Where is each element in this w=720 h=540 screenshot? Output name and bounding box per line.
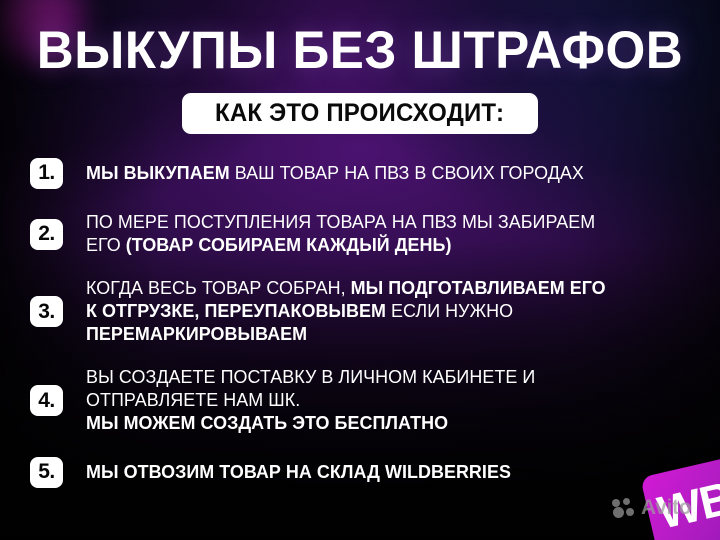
list-item: 5. МЫ ОТВОЗИМ ТОВАР НА СКЛАД WILDBERRIES [30, 455, 702, 489]
step-number-badge: 3. [30, 296, 63, 327]
step-text-line: ПЕРЕМАРКИРОВЫВАЕМ [86, 323, 693, 346]
step-text-line: МЫ МОЖЕМ СОЗДАТЬ ЭТО БЕСПЛАТНО [86, 412, 693, 435]
step-text: МЫ ОТВОЗИМ ТОВАР НА СКЛАД WILDBERRIES [86, 461, 693, 484]
list-item: 3. КОГДА ВЕСЬ ТОВАР СОБРАН, МЫ ПОДГОТАВЛ… [30, 277, 702, 346]
subtitle-pill: КАК ЭТО ПРОИСХОДИТ: [182, 93, 538, 134]
step-text-line: ЕГО (ТОВАР СОБИРАЕМ КАЖДЫЙ ДЕНЬ) [86, 234, 693, 257]
list-item: 1. МЫ ВЫКУПАЕМ ВАШ ТОВАР НА ПВЗ В СВОИХ … [30, 156, 702, 190]
step-text-line: МЫ ОТВОЗИМ ТОВАР НА СКЛАД WILDBERRIES [86, 461, 693, 484]
list-item: 4. ВЫ СОЗДАЕТЕ ПОСТАВКУ В ЛИЧНОМ КАБИНЕТ… [30, 366, 702, 435]
list-item: 2. ПО МЕРЕ ПОСТУПЛЕНИЯ ТОВАРА НА ПВЗ МЫ … [30, 211, 702, 257]
step-number-badge: 4. [30, 385, 63, 416]
avito-watermark-label: Avito [641, 497, 691, 518]
page-title: ВЫКУПЫ БЕЗ ШТРАФОВ [13, 22, 708, 80]
step-text-line: ПО МЕРЕ ПОСТУПЛЕНИЯ ТОВАРА НА ПВЗ МЫ ЗАБ… [86, 211, 693, 234]
step-text-line: ОТПРАВЛЯЕТЕ НАМ ШК. [86, 389, 693, 412]
steps-list: 1. МЫ ВЫКУПАЕМ ВАШ ТОВАР НА ПВЗ В СВОИХ … [30, 156, 702, 489]
step-text-line: КОГДА ВЕСЬ ТОВАР СОБРАН, МЫ ПОДГОТАВЛИВА… [86, 277, 693, 300]
step-text-line: К ОТГРУЗКЕ, ПЕРЕУПАКОВЫВЕМ ЕСЛИ НУЖНО [86, 300, 693, 323]
step-text: ПО МЕРЕ ПОСТУПЛЕНИЯ ТОВАРА НА ПВЗ МЫ ЗАБ… [86, 211, 693, 257]
poster-root: ВЫКУПЫ БЕЗ ШТРАФОВ КАК ЭТО ПРОИСХОДИТ: 1… [0, 0, 720, 540]
step-number-badge: 5. [30, 457, 63, 488]
subtitle-text: КАК ЭТО ПРОИСХОДИТ: [215, 99, 504, 128]
step-text: ВЫ СОЗДАЕТЕ ПОСТАВКУ В ЛИЧНОМ КАБИНЕТЕ И… [86, 366, 693, 435]
step-text: КОГДА ВЕСЬ ТОВАР СОБРАН, МЫ ПОДГОТАВЛИВА… [86, 277, 693, 346]
step-number-badge: 2. [30, 219, 63, 250]
avito-watermark: Avito [612, 497, 691, 518]
avito-dots-icon [612, 498, 638, 518]
step-text-line: МЫ ВЫКУПАЕМ ВАШ ТОВАР НА ПВЗ В СВОИХ ГОР… [86, 162, 693, 185]
step-text: МЫ ВЫКУПАЕМ ВАШ ТОВАР НА ПВЗ В СВОИХ ГОР… [86, 162, 693, 185]
step-number-badge: 1. [30, 158, 63, 189]
step-text-line: ВЫ СОЗДАЕТЕ ПОСТАВКУ В ЛИЧНОМ КАБИНЕТЕ И [86, 366, 693, 389]
